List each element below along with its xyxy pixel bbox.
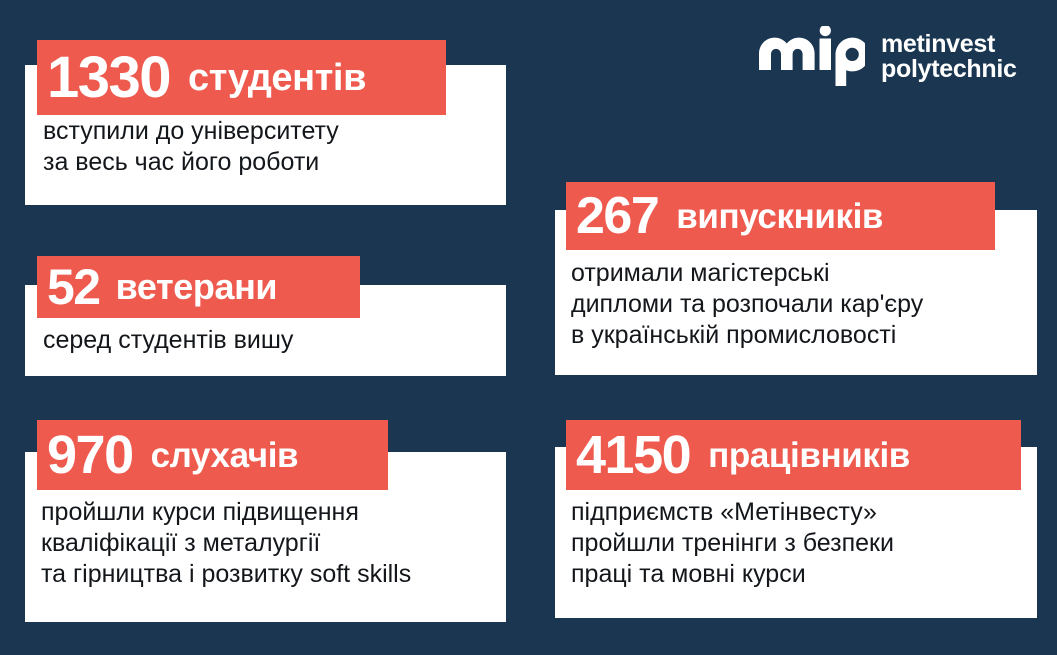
stat-banner: 4150 працівників bbox=[566, 420, 1021, 490]
card-description: вступили до університету за весь час йог… bbox=[43, 116, 339, 178]
description-line: праці та мовні курси bbox=[571, 559, 894, 590]
logo-wordmark: metinvest polytechnic bbox=[881, 32, 1017, 83]
stat-unit: працівників bbox=[708, 438, 910, 473]
stat-number: 970 bbox=[47, 428, 133, 482]
metinvest-polytechnic-logo: metinvest polytechnic bbox=[757, 26, 1017, 88]
card-description: підприємств «Метінвесту» пройшли тренінг… bbox=[571, 497, 894, 590]
stat-number: 267 bbox=[576, 190, 658, 242]
description-line: серед студентів вишу bbox=[43, 325, 293, 356]
description-line: кваліфікації з металургії bbox=[41, 528, 411, 559]
card-description: отримали магістерські дипломи та розпоча… bbox=[571, 258, 923, 351]
description-line: підприємств «Метінвесту» bbox=[571, 497, 894, 528]
description-line: пройшли курси підвищення bbox=[41, 497, 411, 528]
logo-line-metinvest: metinvest bbox=[881, 32, 1017, 58]
stat-unit: ветерани bbox=[116, 269, 278, 305]
card-description: серед студентів вишу bbox=[43, 325, 293, 356]
stat-banner: 267 випускників bbox=[566, 182, 995, 250]
description-line: за весь час його роботи bbox=[43, 147, 339, 178]
stat-unit: студентів bbox=[188, 59, 366, 97]
logo-line-polytechnic: polytechnic bbox=[881, 57, 1017, 83]
description-line: отримали магістерські bbox=[571, 258, 923, 289]
description-line: та гірництва і розвитку soft skills bbox=[41, 559, 411, 590]
description-line: пройшли тренінги з безпеки bbox=[571, 528, 894, 559]
mip-logo-icon bbox=[757, 26, 865, 88]
stat-number: 52 bbox=[47, 262, 100, 312]
stat-number: 4150 bbox=[576, 428, 690, 482]
stat-number: 1330 bbox=[47, 49, 170, 107]
card-description: пройшли курси підвищення кваліфікації з … bbox=[41, 497, 411, 590]
infographic-canvas: metinvest polytechnic 1330 студентів вст… bbox=[0, 0, 1057, 655]
description-line: в українській промисловості bbox=[571, 320, 923, 351]
stat-banner: 1330 студентів bbox=[37, 40, 446, 115]
description-line: вступили до університету bbox=[43, 116, 339, 147]
stat-banner: 52 ветерани bbox=[37, 256, 360, 318]
description-line: дипломи та розпочали кар'єру bbox=[571, 289, 923, 320]
stat-banner: 970 слухачів bbox=[37, 420, 388, 490]
stat-unit: випускників bbox=[676, 199, 883, 234]
stat-unit: слухачів bbox=[151, 438, 299, 473]
